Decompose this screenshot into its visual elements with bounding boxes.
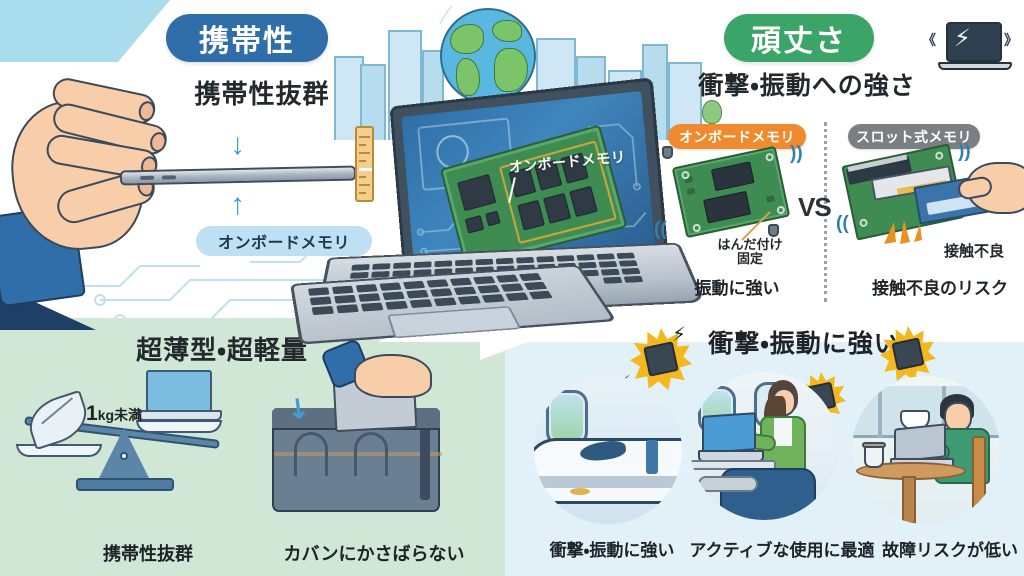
laptop-screen: オンボードメモリ [402,91,655,264]
mini-laptop-lid [146,370,212,412]
comparison-zone: VS )) (( はんだ付け 固定 振動に強い [640,118,1024,303]
annotation-solder: はんだ付け 固定 [690,238,810,265]
feather-icon [23,390,94,450]
lightning-bolt-icon: ⚡ [672,322,686,347]
airplane-seat-laptop-icon [690,372,838,520]
caption-not-bulky: カバンにかさばらない [254,540,494,566]
bullet-train-icon [534,376,682,524]
globe-icon [440,8,536,104]
scale-pan-left [16,444,102,457]
laptop-vibration-icon: ⚡ 《 》 [938,22,1012,76]
bag-handle [294,432,328,476]
bag-handle [354,432,388,476]
vibration-waves-icon: (( [836,216,849,231]
screw-icon [662,146,673,159]
caption-vibration-resistant: 振動に強い [662,274,812,299]
caption-active-use: アクティブな使用に最適 [682,536,882,561]
balance-scale-icon: 1kg未満 [16,380,236,510]
scale-base [76,478,174,491]
vibration-waves-icon: )) [790,146,803,161]
mini-laptop-base [138,410,222,421]
caption-portability: 携帯性抜群 [58,540,238,566]
weight-label: 1kg未満 [86,402,142,426]
caption-contact-failure-risk: 接触不良のリスク [850,274,1024,299]
subtitle-durability: 衝撃・振動への強さ [676,66,938,102]
infographic-canvas: 携帯性 携帯性抜群 ↓ ↑ オンボードメモリ [0,0,1024,576]
shock-resistant-captions: 衝撃・振動に強い アクティブな使用に最適 故障リスクが低い [512,536,1024,566]
contact-spark-icon [880,218,924,248]
cafe-laptop-user-icon [852,376,1000,524]
caption-shock-vibration-resistant: 衝撃・振動に強い [532,536,692,561]
hand-placing-laptop-icon [354,354,432,398]
briefcase-icon: ↘ [250,368,490,518]
mini-laptop-icon [138,370,222,424]
badge-portability: 携帯性 [166,14,328,62]
caption-low-failure-risk: 故障リスクが低い [870,536,1024,561]
vibration-waves-icon: )) [958,144,971,159]
badge-durability: 頑丈さ [724,14,874,62]
annotation-contact-failure: 接触不良 [926,244,1022,260]
arrow-up-icon: ↑ [230,190,245,220]
vs-label: VS [798,192,831,223]
vibration-waves-icon: (( [654,222,667,237]
arrow-down-icon: ↓ [230,130,245,160]
